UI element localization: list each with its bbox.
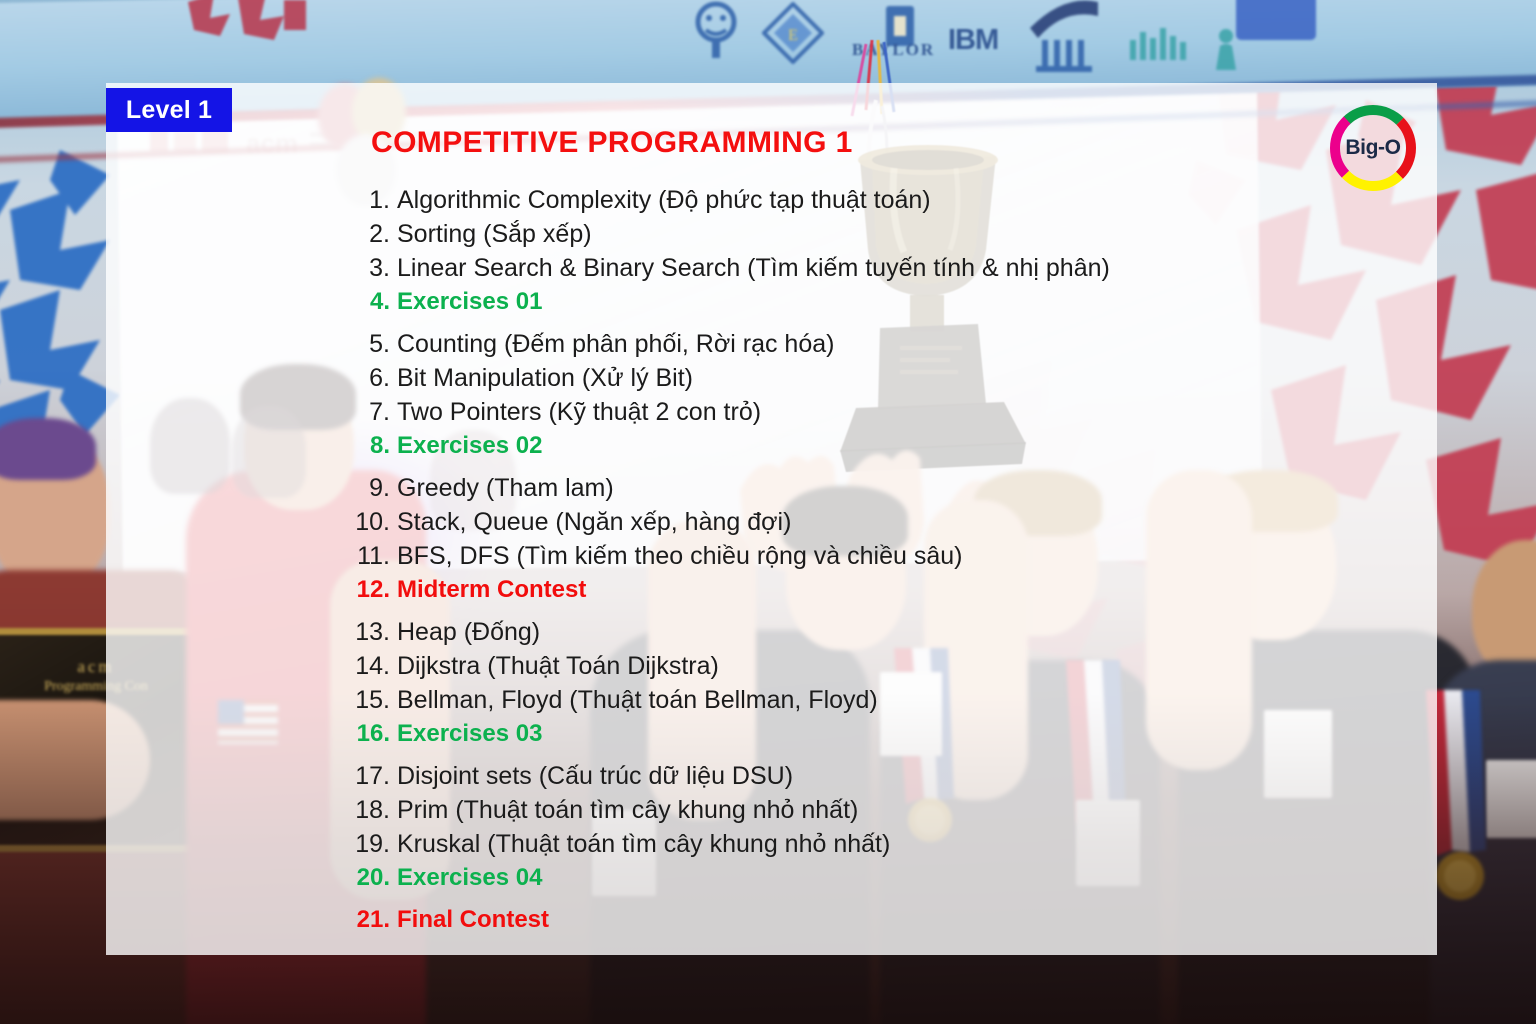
syllabus-item: 16.Exercises 03: [150, 720, 1330, 762]
syllabus-item-number: 19.: [150, 830, 397, 859]
big-o-logo-text: Big-O: [1323, 98, 1423, 198]
syllabus-item: 14.Dijkstra (Thuật Toán Dijkstra): [150, 652, 1330, 686]
syllabus-item: 4.Exercises 01: [150, 288, 1330, 330]
syllabus-item-label: Prim (Thuật toán tìm cây khung nhỏ nhất): [397, 796, 1330, 825]
syllabus-item-label: Heap (Đống): [397, 618, 1330, 647]
syllabus-item-label: Linear Search & Binary Search (Tìm kiếm …: [397, 254, 1330, 283]
syllabus-item: 5.Counting (Đếm phân phối, Rời rạc hóa): [150, 330, 1330, 364]
syllabus-item: 6.Bit Manipulation (Xử lý Bit): [150, 364, 1330, 398]
syllabus-item: 8.Exercises 02: [150, 432, 1330, 474]
syllabus-item: 11.BFS, DFS (Tìm kiếm theo chiều rộng và…: [150, 542, 1330, 576]
syllabus-item-number: 15.: [150, 686, 397, 715]
syllabus-item: 21.Final Contest: [150, 906, 1330, 948]
syllabus-item-number: 12.: [150, 576, 397, 604]
syllabus-item: 17.Disjoint sets (Cấu trúc dữ liệu DSU): [150, 762, 1330, 796]
syllabus-item: 18.Prim (Thuật toán tìm cây khung nhỏ nh…: [150, 796, 1330, 830]
sponsor-logo-shield: [694, 0, 738, 60]
syllabus-item-number: 10.: [150, 508, 397, 537]
syllabus-item-number: 21.: [150, 906, 397, 934]
syllabus-item-number: 1.: [150, 186, 397, 215]
syllabus-list: 1.Algorithmic Complexity (Độ phức tạp th…: [150, 186, 1330, 948]
sponsor-logo-left: [180, 0, 310, 46]
syllabus-item: 3.Linear Search & Binary Search (Tìm kiế…: [150, 254, 1330, 288]
syllabus-item-label: BFS, DFS (Tìm kiếm theo chiều rộng và ch…: [397, 542, 1330, 571]
syllabus-item-label: Bellman, Floyd (Thuật toán Bellman, Floy…: [397, 686, 1330, 715]
syllabus-item-label: Greedy (Tham lam): [397, 474, 1330, 503]
sponsor-logo-teal: [1126, 22, 1196, 66]
syllabus-item-number: 9.: [150, 474, 397, 503]
syllabus-item-label: Exercises 03: [397, 720, 1330, 748]
syllabus-item-number: 5.: [150, 330, 397, 359]
syllabus-item-number: 11.: [150, 542, 397, 571]
syllabus-item-label: Two Pointers (Kỹ thuật 2 con trỏ): [397, 398, 1330, 427]
syllabus-item-number: 17.: [150, 762, 397, 791]
syllabus-item: 7.Two Pointers (Kỹ thuật 2 con trỏ): [150, 398, 1330, 432]
syllabus-item-number: 7.: [150, 398, 397, 427]
syllabus-item-number: 8.: [150, 432, 397, 460]
syllabus-item-label: Midterm Contest: [397, 576, 1330, 604]
syllabus-item: 20.Exercises 04: [150, 864, 1330, 906]
syllabus-item-label: Sorting (Sắp xếp): [397, 220, 1330, 249]
page-title: COMPETITIVE PROGRAMMING 1: [371, 126, 853, 160]
syllabus-item-label: Final Contest: [397, 906, 1330, 934]
syllabus-item-number: 20.: [150, 864, 397, 892]
syllabus-item: 12.Midterm Contest: [150, 576, 1330, 618]
syllabus-item-label: Exercises 04: [397, 864, 1330, 892]
syllabus-item-label: Bit Manipulation (Xử lý Bit): [397, 364, 1330, 393]
syllabus-item-number: 13.: [150, 618, 397, 647]
syllabus-item-number: 6.: [150, 364, 397, 393]
syllabus-item-number: 3.: [150, 254, 397, 283]
syllabus-item-number: 14.: [150, 652, 397, 681]
syllabus-item: 9.Greedy (Tham lam): [150, 474, 1330, 508]
syllabus-item-label: Dijkstra (Thuật Toán Dijkstra): [397, 652, 1330, 681]
syllabus-item-label: Counting (Đếm phân phối, Rời rạc hóa): [397, 330, 1330, 359]
syllabus-item-label: Algorithmic Complexity (Độ phức tạp thuậ…: [397, 186, 1330, 215]
syllabus-item-number: 16.: [150, 720, 397, 748]
syllabus-item-label: Exercises 01: [397, 288, 1330, 316]
syllabus-item-number: 4.: [150, 288, 397, 316]
sponsor-logo-blue-block: [1236, 0, 1346, 54]
syllabus-item: 1.Algorithmic Complexity (Độ phức tạp th…: [150, 186, 1330, 220]
syllabus-item: 15.Bellman, Floyd (Thuật toán Bellman, F…: [150, 686, 1330, 720]
syllabus-item-label: Stack, Queue (Ngăn xếp, hàng đợi): [397, 508, 1330, 537]
syllabus-item: 19.Kruskal (Thuật toán tìm cây khung nhỏ…: [150, 830, 1330, 864]
syllabus-item-number: 2.: [150, 220, 397, 249]
syllabus-item-label: Disjoint sets (Cấu trúc dữ liệu DSU): [397, 762, 1330, 791]
syllabus-item: 10.Stack, Queue (Ngăn xếp, hàng đợi): [150, 508, 1330, 542]
syllabus-item-number: 18.: [150, 796, 397, 825]
level-badge-label: Level 1: [126, 96, 212, 125]
level-badge: Level 1: [106, 88, 232, 132]
person-left-hair: [0, 418, 96, 480]
syllabus-item-label: Kruskal (Thuật toán tìm cây khung nhỏ nh…: [397, 830, 1330, 859]
big-o-logo: Big-O: [1323, 98, 1423, 198]
syllabus-item: 13.Heap (Đống): [150, 618, 1330, 652]
syllabus-item: 2.Sorting (Sắp xếp): [150, 220, 1330, 254]
slide-root: acm E B: [0, 0, 1536, 1024]
syllabus-item-label: Exercises 02: [397, 432, 1330, 460]
